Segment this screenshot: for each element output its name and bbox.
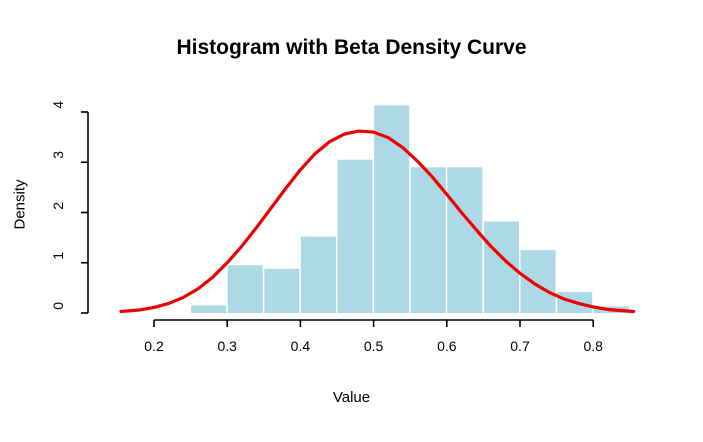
histogram-bars bbox=[191, 105, 629, 313]
histogram-bar bbox=[264, 269, 299, 313]
chart-root: Histogram with Beta Density Curve Densit… bbox=[0, 0, 703, 442]
y-tick-label: 4 bbox=[50, 101, 66, 121]
x-tick-label: 0.4 bbox=[280, 338, 320, 354]
histogram-bar bbox=[374, 105, 409, 313]
histogram-bar bbox=[338, 160, 373, 313]
y-axis-label: Density bbox=[12, 145, 29, 265]
histogram-bar bbox=[521, 250, 556, 313]
x-tick-label: 0.2 bbox=[134, 338, 174, 354]
x-tick-label: 0.3 bbox=[207, 338, 247, 354]
histogram-bar bbox=[228, 265, 263, 313]
plot-area bbox=[0, 0, 703, 442]
x-tick-label: 0.6 bbox=[427, 338, 467, 354]
histogram-bar bbox=[301, 237, 336, 313]
x-tick-label: 0.8 bbox=[573, 338, 613, 354]
histogram-bar bbox=[447, 167, 482, 313]
y-tick-label: 1 bbox=[50, 252, 66, 272]
histogram-bar bbox=[191, 305, 226, 313]
y-tick-label: 2 bbox=[50, 202, 66, 222]
y-tick-label: 0 bbox=[50, 302, 66, 322]
y-tick-label: 3 bbox=[50, 151, 66, 171]
x-axis-label: Value bbox=[0, 389, 703, 406]
x-tick-label: 0.5 bbox=[354, 338, 394, 354]
x-tick-label: 0.7 bbox=[500, 338, 540, 354]
